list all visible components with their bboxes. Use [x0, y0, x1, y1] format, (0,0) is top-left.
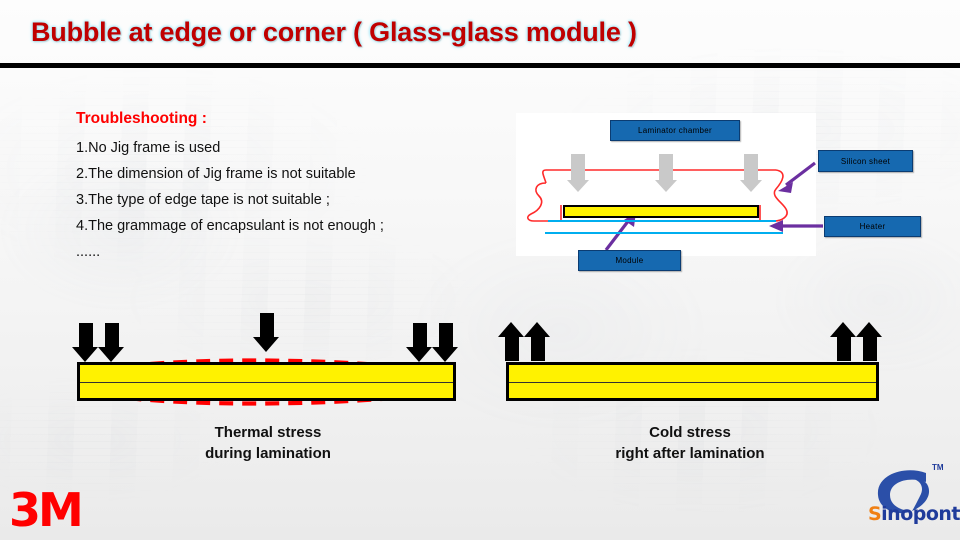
sinopont-wordmark: Sinopont [866, 503, 960, 525]
pressure-arrow-2 [659, 154, 673, 192]
heater-line-lower [545, 232, 783, 234]
sinopont-wordmark-rest: inopont [881, 503, 960, 525]
label-silicon-sheet[interactable]: Silicon sheet [818, 150, 913, 172]
cold-stress-module-box [506, 362, 879, 401]
laminator-module-bar [563, 205, 759, 218]
thermal-arrow-down-3 [259, 313, 275, 352]
caption-thermal-stress: Thermal stress during lamination [118, 422, 418, 464]
thermal-stress-midline [80, 382, 453, 383]
troubleshooting-item-ellipsis: ...... [76, 239, 496, 265]
slide-canvas: Bubble at edge or corner ( Glass-glass m… [0, 0, 960, 540]
thermal-arrow-down-5 [438, 323, 454, 362]
cold-stress-midline [509, 382, 876, 383]
label-heater[interactable]: Heater [824, 216, 921, 237]
cold-arrow-up-4 [862, 322, 878, 361]
label-laminator-chamber[interactable]: Laminator chamber [610, 120, 740, 141]
caption-thermal-line1: Thermal stress [118, 422, 418, 443]
thermal-arrow-down-2 [104, 323, 120, 362]
cold-arrow-up-1 [504, 322, 520, 361]
troubleshooting-item-4: 4.The grammage of encapsulant is not eno… [76, 213, 496, 239]
cold-arrow-up-2 [530, 322, 546, 361]
caption-cold-line1: Cold stress [540, 422, 840, 443]
thermal-arrow-down-4 [412, 323, 428, 362]
caption-cold-line2: right after lamination [540, 443, 840, 464]
sinopont-wordmark-initial: S [868, 503, 881, 525]
label-module[interactable]: Module [578, 250, 681, 271]
pressure-arrow-1 [571, 154, 585, 192]
troubleshooting-item-3: 3.The type of edge tape is not suitable … [76, 187, 496, 213]
page-title: Bubble at edge or corner ( Glass-glass m… [31, 17, 637, 48]
pressure-arrow-3 [744, 154, 758, 192]
thermal-arrow-down-1 [78, 323, 94, 362]
sinopont-trademark: TM [932, 463, 944, 472]
troubleshooting-item-2: 2.The dimension of Jig frame is not suit… [76, 161, 496, 187]
troubleshooting-block: Troubleshooting : 1.No Jig frame is used… [76, 110, 496, 265]
title-divider-rule [0, 63, 960, 68]
three-m-logo: 3M [9, 487, 81, 533]
thermal-stress-module-box [77, 362, 456, 401]
troubleshooting-item-1: 1.No Jig frame is used [76, 135, 496, 161]
troubleshooting-heading: Troubleshooting : [76, 110, 496, 128]
caption-thermal-line2: during lamination [118, 443, 418, 464]
caption-cold-stress: Cold stress right after lamination [540, 422, 840, 464]
heater-line-upper [548, 220, 776, 222]
cold-arrow-up-3 [836, 322, 852, 361]
